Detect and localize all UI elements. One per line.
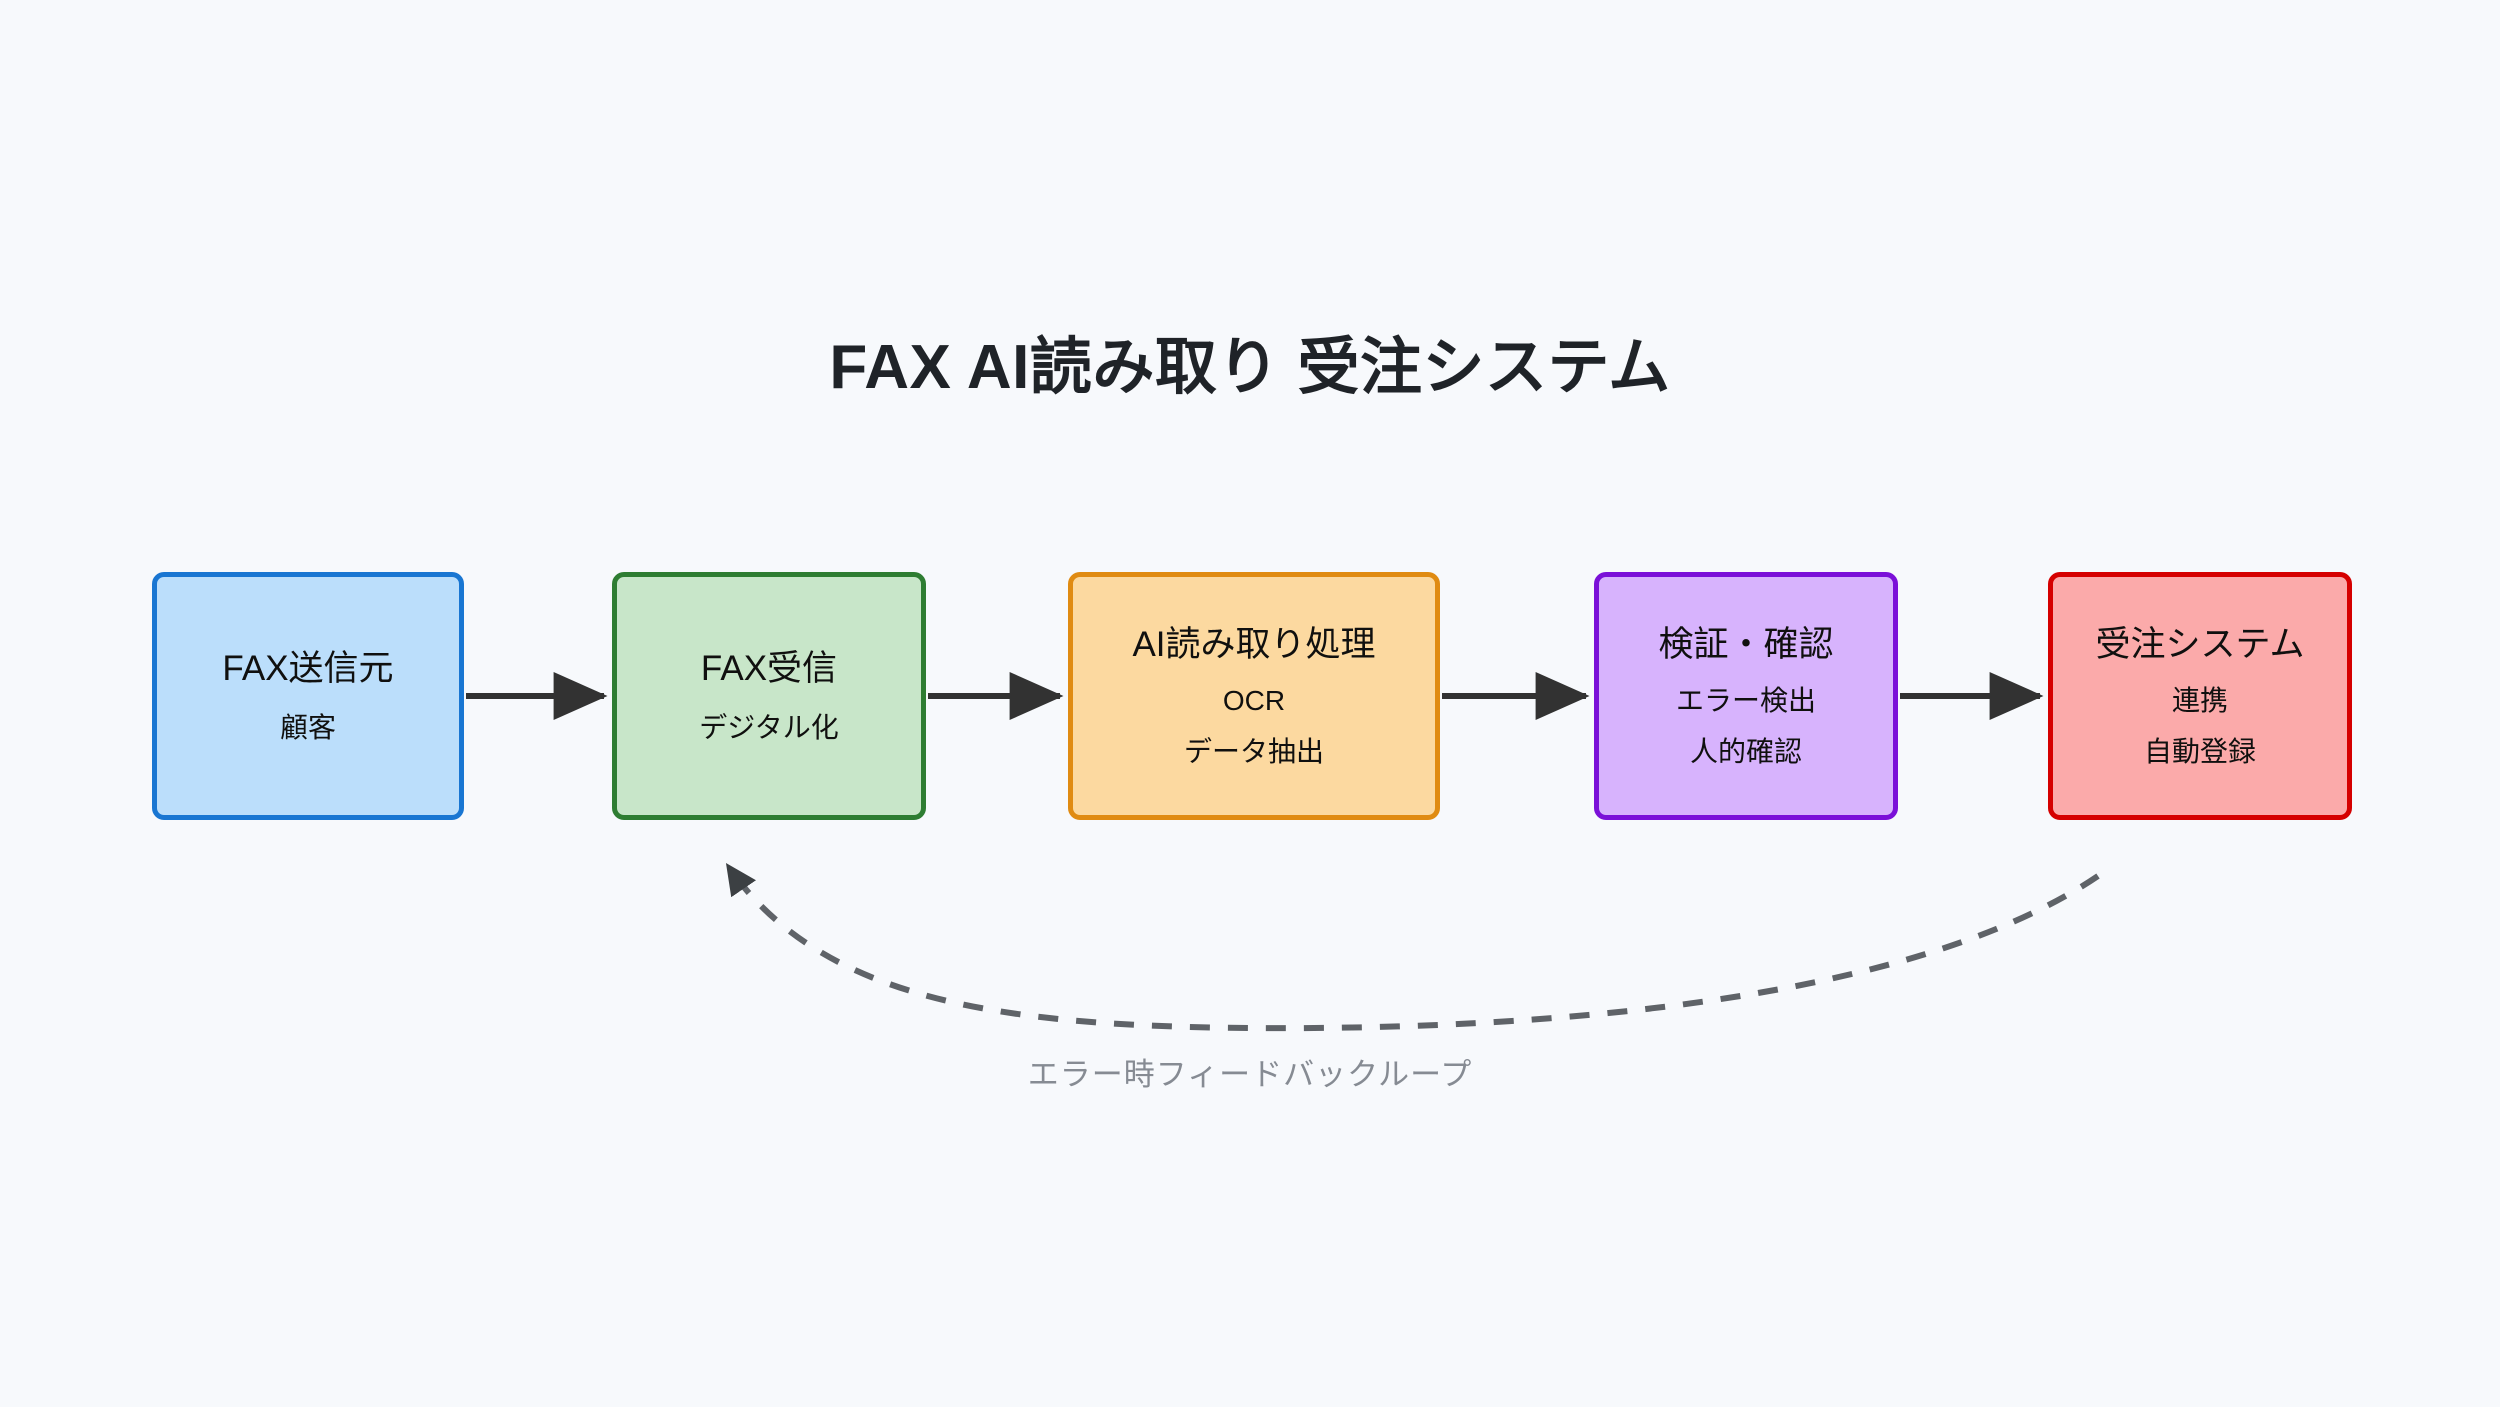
node-subtitle-2: 自動登録 bbox=[2144, 735, 2256, 768]
node-verify-confirm[interactable]: 検証・確認 エラー検出 人的確認 bbox=[1594, 572, 1898, 820]
node-title: FAX送信元 bbox=[222, 648, 393, 689]
node-subtitle-2: データ抽出 bbox=[1184, 735, 1324, 768]
node-order-system[interactable]: 受注システム 連携 自動登録 bbox=[2048, 572, 2352, 820]
node-title: 検証・確認 bbox=[1658, 624, 1833, 665]
node-subtitle-1: 顧客 bbox=[280, 711, 336, 744]
node-fax-source[interactable]: FAX送信元 顧客 bbox=[152, 572, 464, 820]
feedback-loop-label: エラー時フィードバックループ bbox=[0, 1049, 2500, 1094]
node-title: 受注システム bbox=[2096, 624, 2305, 665]
node-title: AI読み取り処理 bbox=[1132, 624, 1375, 665]
node-ai-ocr[interactable]: AI読み取り処理 OCR データ抽出 bbox=[1068, 572, 1440, 820]
feedback-loop-arrow bbox=[728, 866, 2098, 1028]
node-subtitle-1: OCR bbox=[1223, 684, 1285, 717]
diagram-canvas: FAX AI読み取り 受注システム FAX送信元 顧客 bbox=[0, 0, 2500, 1407]
node-subtitle-1: デジタル化 bbox=[699, 711, 838, 744]
node-title: FAX受信 bbox=[701, 648, 837, 689]
node-fax-receive[interactable]: FAX受信 デジタル化 bbox=[612, 572, 926, 820]
node-subtitle-2: 人的確認 bbox=[1690, 735, 1802, 768]
node-subtitle-1: エラー検出 bbox=[1676, 684, 1816, 717]
node-subtitle-1: 連携 bbox=[2172, 684, 2228, 717]
